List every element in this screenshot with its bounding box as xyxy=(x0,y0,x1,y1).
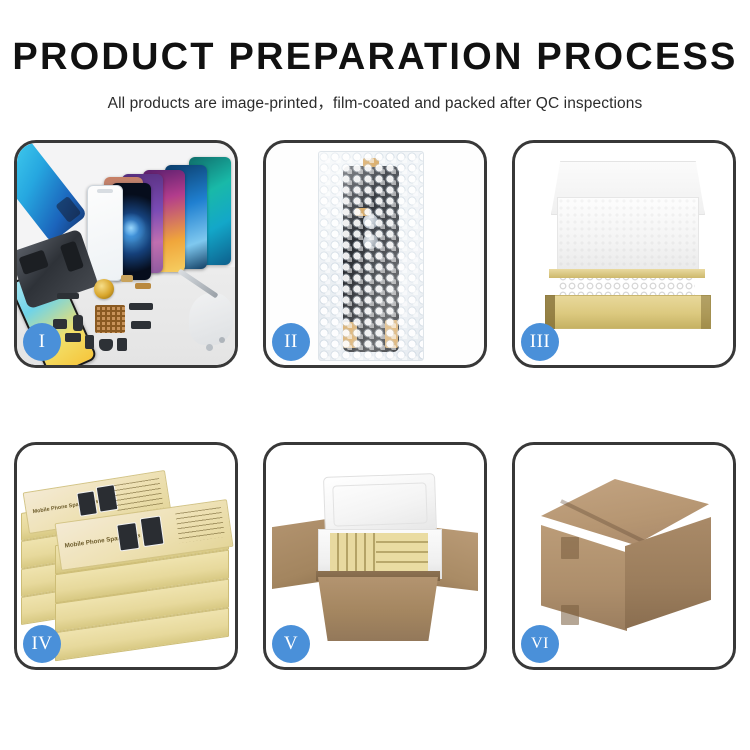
plastic-sheen xyxy=(319,152,423,360)
kraft-box-front xyxy=(545,295,711,329)
technician-hand xyxy=(189,293,233,345)
packed-kraft-boxes xyxy=(330,533,428,573)
screw xyxy=(219,337,225,343)
step-badge-6: VI xyxy=(521,625,559,663)
spare-part xyxy=(131,321,151,329)
page-title: PRODUCT PREPARATION PROCESS xyxy=(0,38,750,76)
bubble-wrap-bag xyxy=(318,151,424,361)
step-panel-4[interactable]: Mobile Phone Spare Parts Mobile Phone Sp… xyxy=(14,442,238,670)
page-header: PRODUCT PREPARATION PROCESS All products… xyxy=(0,0,750,113)
step-badge-1: I xyxy=(23,323,61,361)
carton-body xyxy=(318,577,438,641)
spare-part xyxy=(65,333,81,342)
box-spec-text-block xyxy=(175,507,225,543)
spare-part xyxy=(57,293,79,299)
screw xyxy=(206,344,213,351)
spare-part xyxy=(99,339,113,351)
box-artwork-screen xyxy=(140,516,165,548)
step-panel-2[interactable]: II xyxy=(263,140,487,368)
foam-box-lid xyxy=(323,473,437,537)
spare-part xyxy=(117,338,127,351)
spare-part xyxy=(129,303,153,310)
step-panel-3[interactable]: III xyxy=(512,140,736,368)
step-panel-1[interactable]: I xyxy=(14,140,238,368)
step-panel-5[interactable]: V xyxy=(263,442,487,670)
step-badge-4: IV xyxy=(23,625,61,663)
white-foam-sheet xyxy=(557,197,699,277)
copper-coil-part xyxy=(94,279,114,299)
box-artwork-screen xyxy=(116,522,140,552)
spare-part xyxy=(135,283,151,289)
carton-tape xyxy=(561,537,579,559)
box-artwork-screen xyxy=(76,490,98,517)
process-steps-grid: I II xyxy=(14,140,736,670)
page-subtitle: All products are image-printed，film-coat… xyxy=(0,91,750,113)
box-rim xyxy=(549,269,705,278)
contact-pad-grid xyxy=(95,305,125,333)
step-badge-2: II xyxy=(272,323,310,361)
step-panel-6[interactable]: VI xyxy=(512,442,736,670)
step-badge-5: V xyxy=(272,625,310,663)
spare-part xyxy=(73,315,83,331)
carton-tape xyxy=(561,605,579,625)
foam-texture xyxy=(558,198,698,276)
spare-part xyxy=(85,335,94,349)
spare-part xyxy=(121,275,133,282)
step-badge-3: III xyxy=(521,323,559,361)
